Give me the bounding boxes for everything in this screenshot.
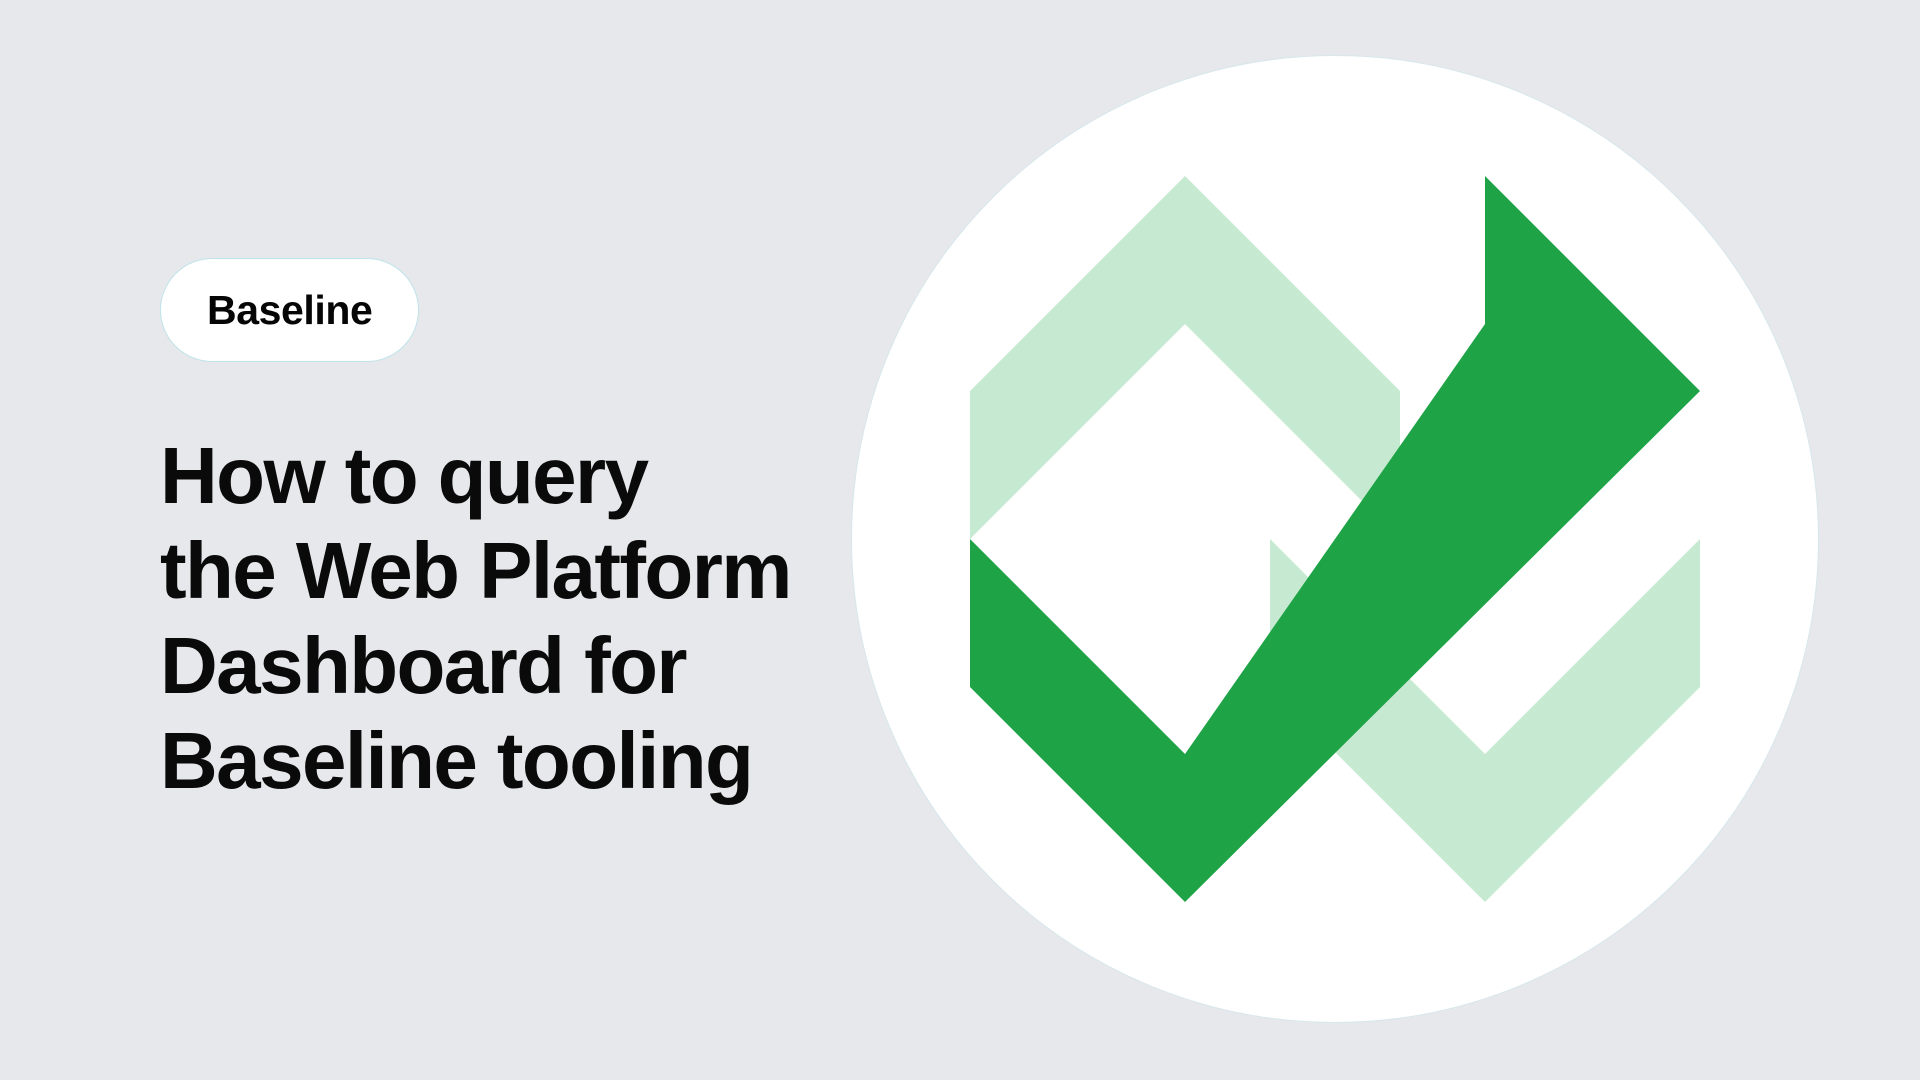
baseline-badge-label: Baseline: [207, 290, 372, 331]
content-column: Baseline How to query the Web Platform D…: [160, 258, 860, 862]
baseline-badge[interactable]: Baseline: [160, 258, 419, 362]
baseline-logo-icon: [885, 89, 1785, 989]
share-card: Baseline How to query the Web Platform D…: [0, 0, 1920, 1080]
headline-line-3: Dashboard for: [160, 618, 820, 713]
page-title: How to query the Web Platform Dashboard …: [160, 428, 820, 808]
headline-line-2: the Web Platform: [160, 523, 820, 618]
left-chevron-up-icon: [970, 176, 1400, 539]
headline-line-1: How to query: [160, 428, 820, 523]
headline-line-4: Baseline tooling: [160, 713, 820, 808]
baseline-logo-disc: [851, 55, 1819, 1023]
